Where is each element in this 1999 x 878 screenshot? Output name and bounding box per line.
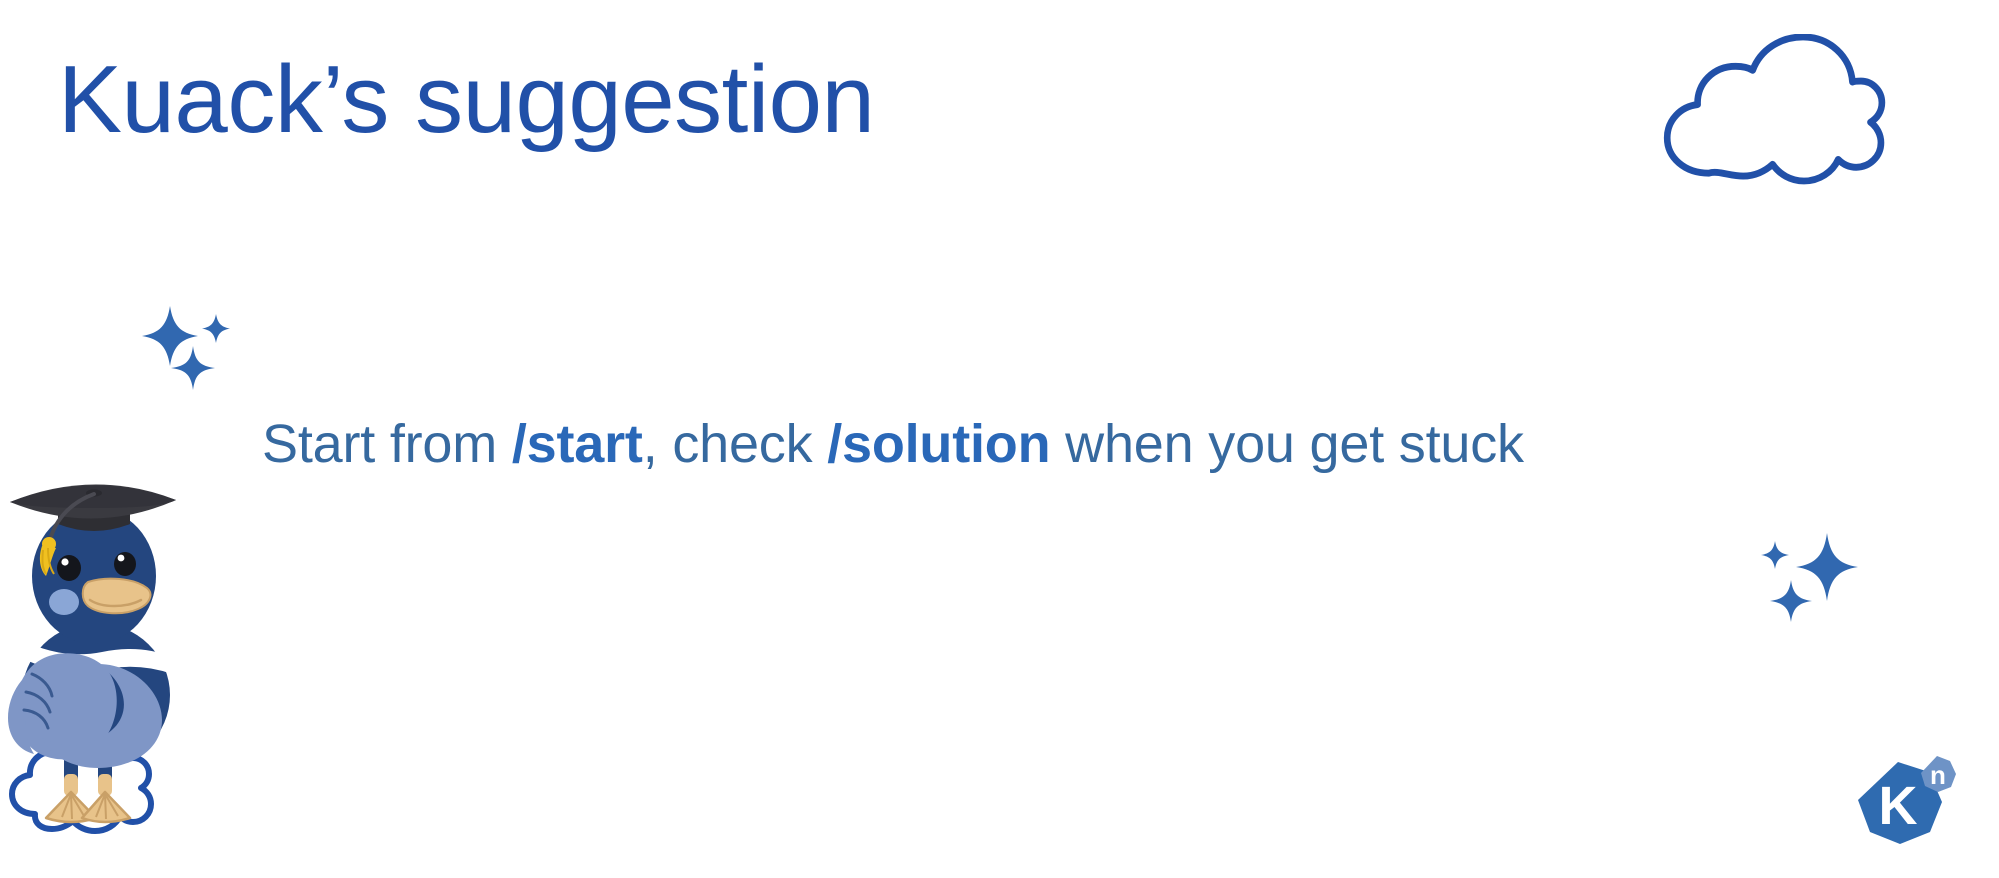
sparkle-cluster-left-icon [140, 300, 240, 390]
kuack-duck-mascot [2, 452, 212, 872]
kn-brand-logo[interactable]: K n [1852, 752, 1960, 856]
command-start: /start [512, 414, 643, 474]
command-solution: /solution [827, 414, 1050, 474]
body-text-part-1: Start from [262, 414, 512, 474]
page-title: Kuack’s suggestion [58, 52, 874, 148]
body-instruction-line: Start from /start, check /solution when … [262, 417, 1524, 471]
mascot-body [8, 623, 172, 768]
logo-letter-k: K [1879, 776, 1918, 836]
body-text-part-3: when you get stuck [1050, 414, 1523, 474]
body-text-part-2: , check [643, 414, 827, 474]
cloud-outline-icon [1660, 34, 1890, 189]
sparkle-cluster-right-icon [1755, 530, 1860, 625]
slide-canvas: Kuack’s suggestion Start from /start, ch… [0, 0, 1999, 878]
logo-badge-letter-n: n [1930, 760, 1946, 790]
